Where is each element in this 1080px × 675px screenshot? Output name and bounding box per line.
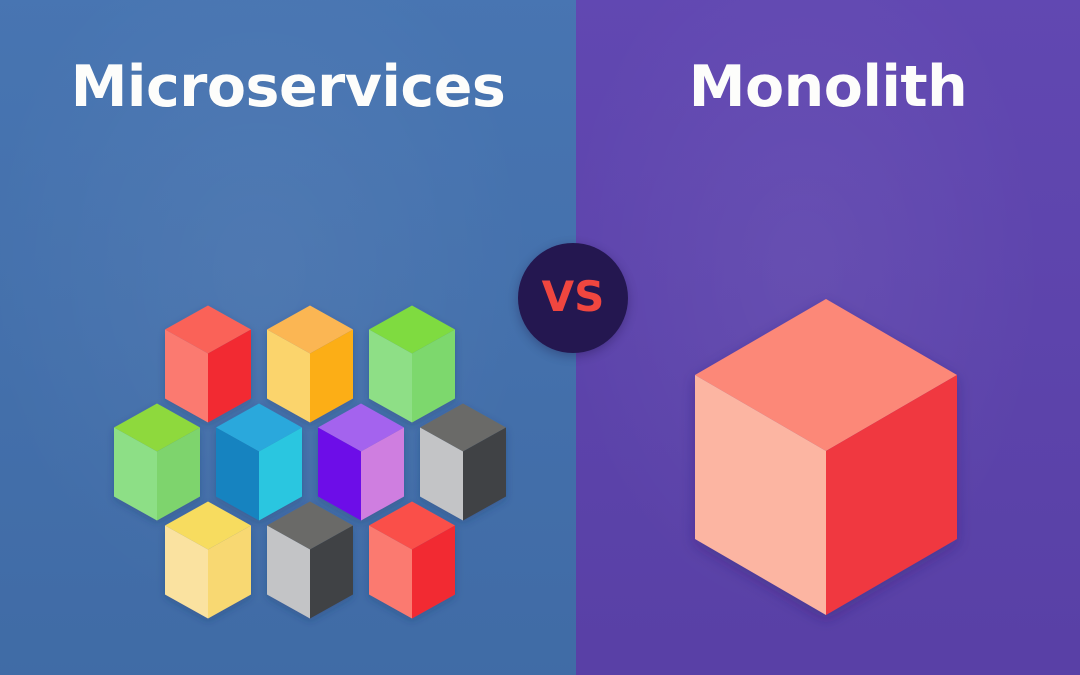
cube-red-2-hit-area[interactable] (369, 502, 455, 619)
vs-badge-label: VS (542, 276, 605, 318)
vs-badge[interactable]: VS (518, 243, 628, 353)
page-title-microservices: Microservices (0, 58, 576, 118)
cube-monolith-hit-area[interactable] (695, 299, 957, 615)
page-title-monolith: Monolith (576, 58, 1080, 118)
cube-dark-gray-hit-area[interactable] (267, 502, 353, 619)
cube-yellow-hit-area[interactable] (165, 502, 251, 619)
slide-canvas: Microservices Monolith VS (0, 0, 1080, 675)
